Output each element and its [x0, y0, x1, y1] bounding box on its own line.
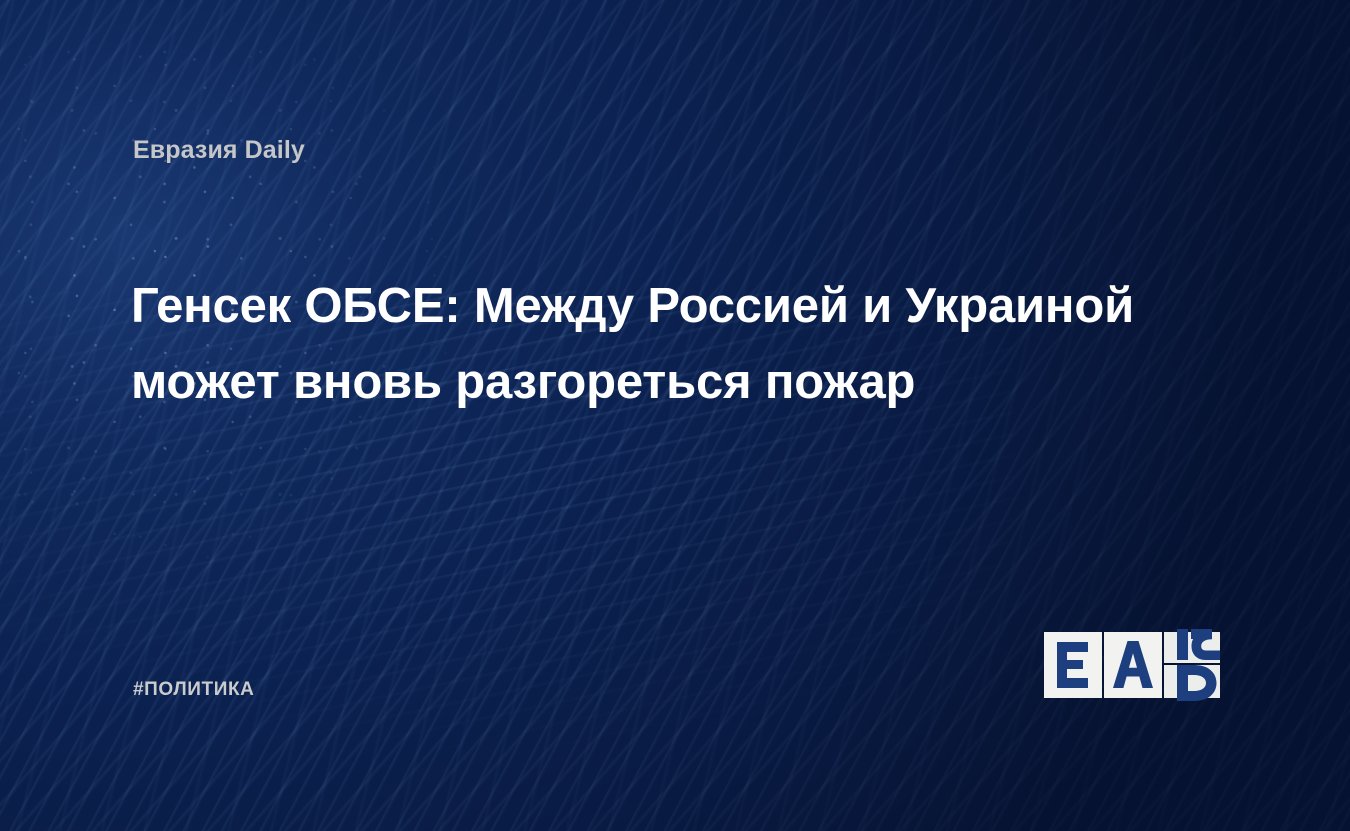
news-card: Евразия Daily Генсек ОБСЕ: Между Россией…	[0, 0, 1350, 831]
ead-logo	[1044, 629, 1220, 701]
page-title: Генсек ОБСЕ: Между Россией и Украиной мо…	[131, 268, 1191, 420]
brand-title: Евразия Daily	[133, 136, 305, 165]
card-content: Евразия Daily Генсек ОБСЕ: Между Россией…	[0, 0, 1350, 831]
ead-logo-icon	[1044, 629, 1220, 701]
category-tag: #ПОЛИТИКА	[133, 679, 255, 701]
